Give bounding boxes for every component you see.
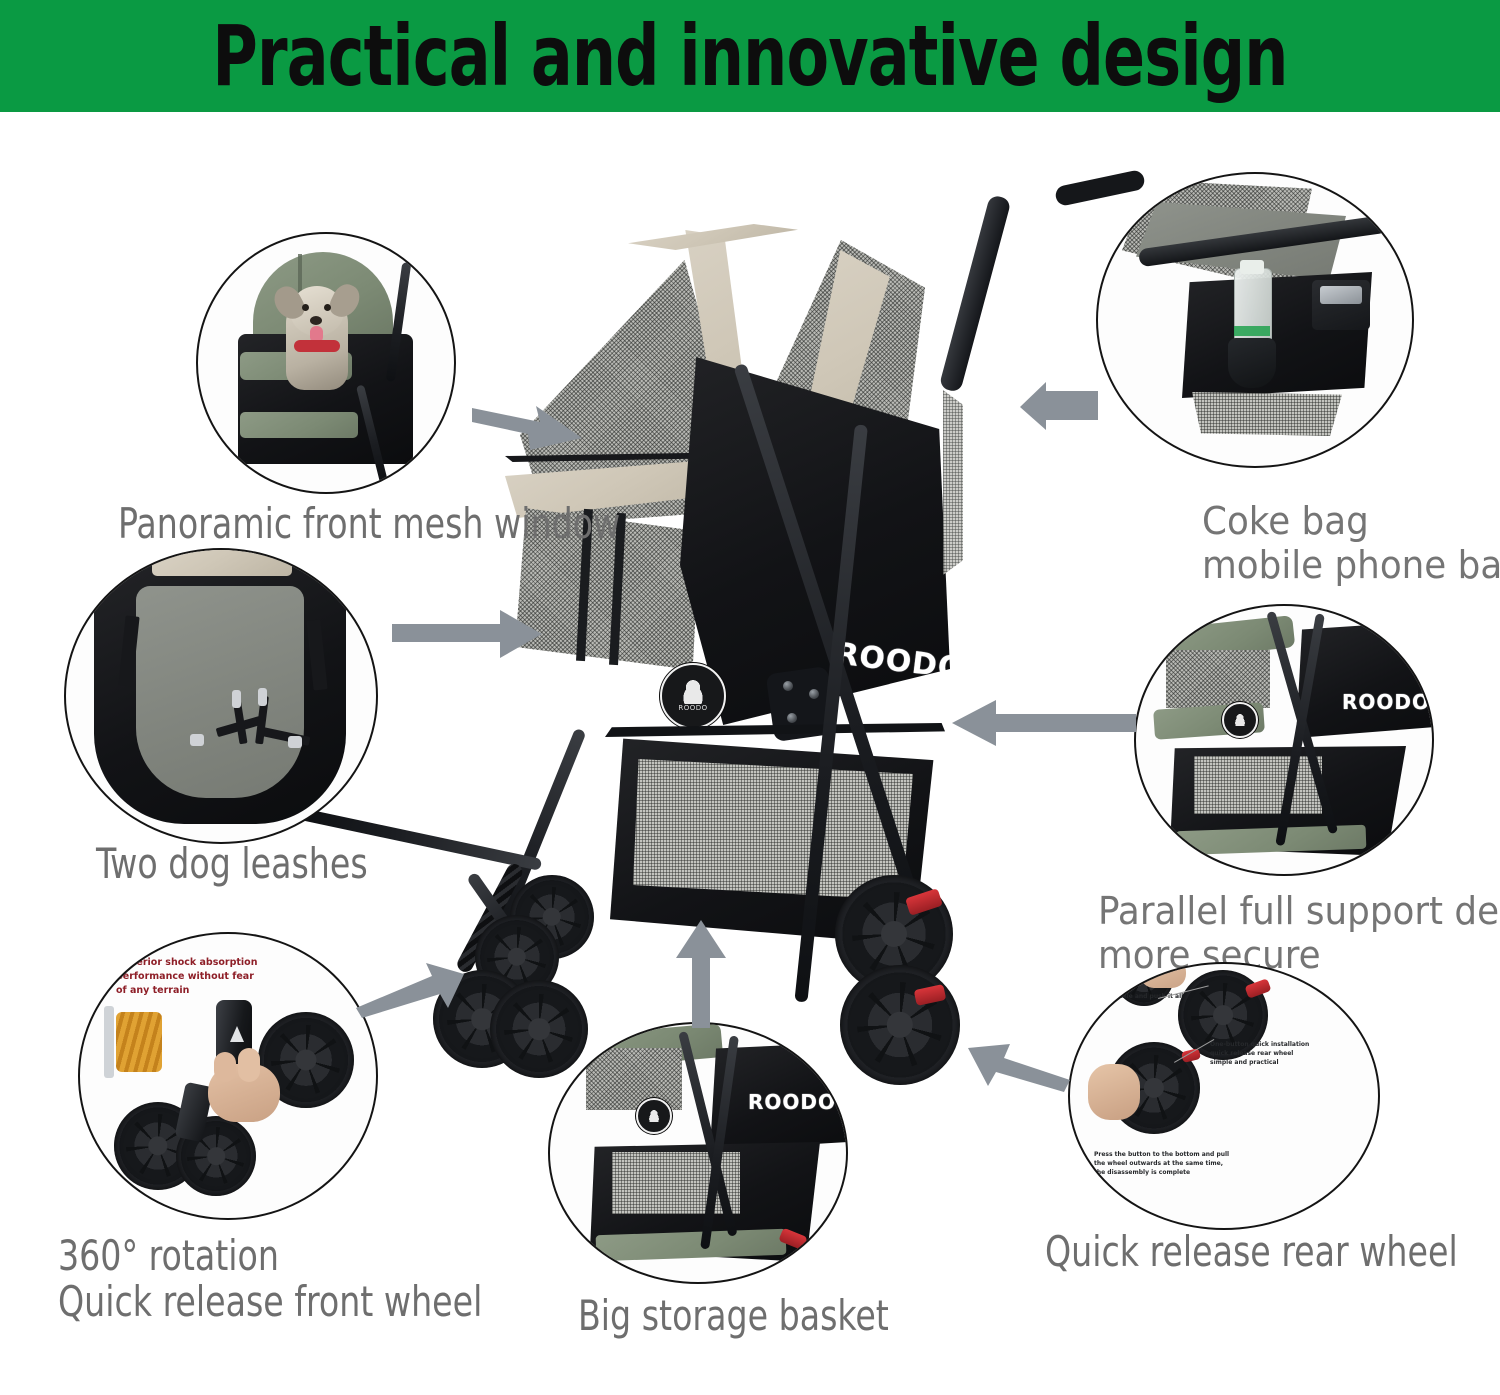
dog-logo-icon <box>1233 714 1248 726</box>
dog-collar <box>294 340 340 352</box>
storage-basket-photo: ROODO® <box>548 1022 848 1284</box>
caption-two-dog-leashes: Two dog leashes <box>96 840 368 887</box>
dog-in-stroller-photo <box>196 232 456 494</box>
page-title: Practical and innovative design <box>135 6 1365 106</box>
bottle-label <box>1234 326 1270 336</box>
leash-adjuster-left <box>190 734 204 746</box>
caption-quick-release-rear-wheel: Quick release rear wheel <box>1045 1228 1458 1275</box>
bottle-holder <box>1228 338 1276 388</box>
arrow-to-interior <box>392 608 544 660</box>
hand-finger-1 <box>214 1052 236 1082</box>
arrow-to-rear-wheel <box>968 1032 1072 1094</box>
dog-nose <box>310 316 322 325</box>
leash-clip-right <box>258 688 267 706</box>
rear-wheel-annotation-mid: One-button quick installation quick rele… <box>1210 1040 1309 1067</box>
rear-wheel-annotation-bottom: Press the button to the bottom and pull … <box>1094 1150 1229 1177</box>
arrow-to-coke-bag <box>1020 382 1100 432</box>
phone-in-pocket <box>1320 286 1362 304</box>
parallel-support-photo: ROODO® <box>1134 604 1434 876</box>
inset6-brand-wordmark: ROODO® <box>1342 690 1434 714</box>
caption-panoramic-front-mesh-window: Panoramic front mesh window <box>118 500 620 547</box>
spring-bracket <box>104 1006 114 1078</box>
caption-rotation-line2: Quick release front wheel <box>58 1278 482 1325</box>
inset4-brand-badge <box>636 1098 672 1134</box>
inset2-seat-mat <box>136 586 304 798</box>
arrow-to-parallel-support <box>952 698 1138 748</box>
inset7-hand-top <box>1140 962 1186 988</box>
caption-rotation-line1: 360° rotation <box>58 1232 279 1279</box>
arrow-to-storage-basket <box>672 920 730 1030</box>
inset5-lower-mesh <box>1192 392 1342 436</box>
bottle-cap <box>1240 260 1264 274</box>
water-bottle <box>1234 268 1272 348</box>
coke-bag-photo <box>1096 172 1414 468</box>
rear-wheel-right <box>840 965 960 1085</box>
inset6-basket-mesh <box>1194 756 1322 814</box>
brand-badge: ROODO <box>660 663 726 729</box>
shock-absorption-annotation: Superior shock absorption performance wi… <box>116 956 257 997</box>
caption-coke-bag-line1: Coke bag <box>1202 500 1369 543</box>
cabin-side-mesh <box>943 390 963 575</box>
inset1-lower-panel <box>240 412 358 438</box>
leash-adjuster-right <box>288 736 302 748</box>
inset7-hand-bottom <box>1088 1064 1140 1120</box>
caption-coke-bag-line2: mobile phone bag <box>1202 544 1500 587</box>
dog-eye-left <box>302 304 309 311</box>
leash-clip-left <box>232 690 241 708</box>
inset6-side-mesh <box>1166 650 1270 708</box>
dog-logo-icon <box>647 1110 662 1122</box>
caption-parallel-support-line1: Parallel full support design <box>1098 890 1500 933</box>
spring-diagram <box>116 1012 162 1072</box>
dog-eye-right <box>324 304 331 311</box>
badge-wordmark: ROODO <box>678 704 707 712</box>
inset4-side-mesh <box>586 1048 682 1110</box>
hand-finger-2 <box>238 1048 260 1082</box>
header-banner: Practical and innovative design <box>0 0 1500 112</box>
inset4-brand-wordmark: ROODO® <box>748 1090 846 1114</box>
arrow-to-front-wheel <box>356 960 466 1020</box>
hub-rivet-1 <box>783 681 793 691</box>
shock-cartridge-arrow-icon <box>230 1026 244 1042</box>
inset6-brand-badge <box>1222 702 1258 738</box>
hub-rivet-3 <box>787 713 797 723</box>
inset2-canopy-edge <box>152 550 292 576</box>
rear-wheel-quick-release-photo: Align the axle and push it all the way O… <box>1068 962 1380 1230</box>
dog-logo-icon <box>679 680 708 704</box>
arrow-to-mesh-window <box>470 392 590 458</box>
stroller-interior-leashes-photo <box>64 548 378 844</box>
caption-big-storage-basket: Big storage basket <box>578 1292 889 1339</box>
handle-bar <box>939 194 1012 393</box>
hub-rivet-2 <box>809 689 819 699</box>
front-wheel-shock-absorption-photo: Superior shock absorption performance wi… <box>78 932 378 1220</box>
